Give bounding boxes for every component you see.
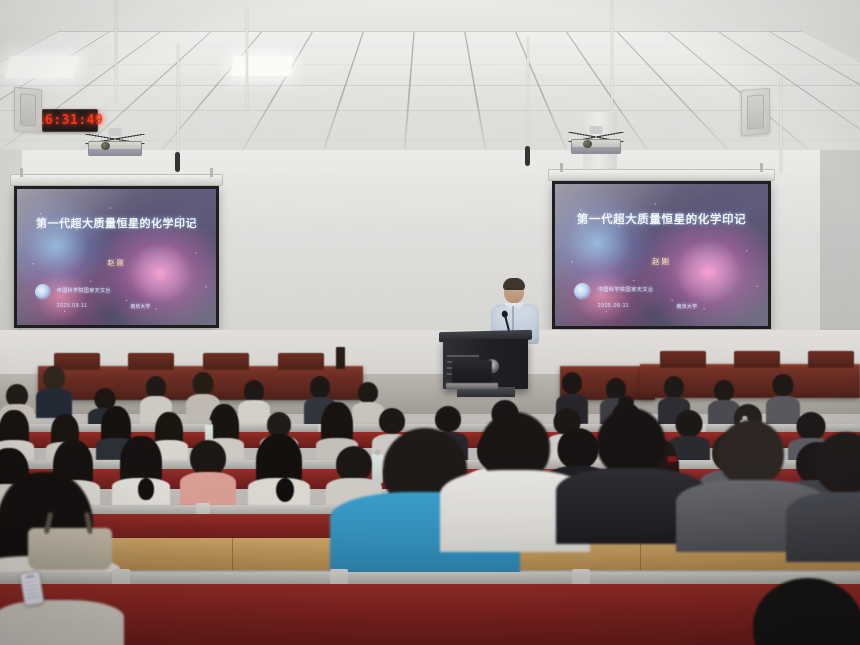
person-body <box>786 492 860 562</box>
ceiling-cable <box>246 8 248 110</box>
ceiling-cable <box>115 0 117 102</box>
person-head <box>43 366 65 390</box>
front-chair <box>203 353 249 370</box>
ceiling-cable <box>611 0 613 108</box>
person-head <box>718 420 784 486</box>
clock-time: 16:31:49 <box>37 113 104 128</box>
cable-weight <box>525 146 530 166</box>
phone-screen-content <box>23 576 41 602</box>
foreground-person-edge <box>786 432 860 562</box>
person-head <box>664 376 684 398</box>
person-body <box>180 472 236 506</box>
wall-speaker-right <box>741 88 770 137</box>
person-head <box>562 372 582 394</box>
bottle-cap <box>207 420 212 425</box>
slide-wash <box>17 189 216 325</box>
foreground-person-bottom-right <box>718 578 860 645</box>
front-chair <box>278 353 324 370</box>
audience-person <box>180 440 236 506</box>
screen-bracket <box>560 163 563 172</box>
lecture-hall-photo: 16:31:49 第一代超大质量恒星的化学印记 赵刚 中国科学院国家天文台 20… <box>0 0 860 645</box>
front-post <box>336 347 345 369</box>
front-chair <box>808 351 854 368</box>
person-head <box>146 376 166 398</box>
cable-weight <box>175 152 180 172</box>
projector-body <box>571 139 621 154</box>
person-head <box>597 408 665 476</box>
wall-led-clock: 16:31:49 <box>42 109 98 132</box>
screen-roller-case <box>548 169 775 181</box>
projector-body <box>88 141 142 156</box>
ceiling-cable <box>780 78 782 173</box>
person-head <box>773 374 794 396</box>
screen-frame: 第一代超大质量恒星的化学印记 赵刚 中国科学院国家天文台 2025.09.11 … <box>14 186 219 328</box>
screen-bracket <box>20 168 23 177</box>
front-chair <box>734 351 780 368</box>
hair-bun <box>618 396 634 408</box>
screen-bracket <box>210 168 213 177</box>
person-head <box>193 372 214 395</box>
ceiling-cable <box>527 38 529 148</box>
person-body <box>0 600 124 645</box>
speaker-grill <box>20 93 37 126</box>
ceiling-projector-left <box>85 128 145 160</box>
glasses-icon <box>506 288 522 291</box>
hair-bun <box>138 478 154 500</box>
slide-canvas: 第一代超大质量恒星的化学印记 赵刚 中国科学院国家天文台 2025.09.11 … <box>555 184 768 326</box>
front-chair <box>660 351 706 368</box>
audience-person <box>248 432 310 508</box>
person-head <box>815 432 860 494</box>
audience-person <box>112 434 170 506</box>
projector-lens-icon <box>583 140 592 148</box>
ceiling-cable <box>177 44 179 156</box>
person-head <box>310 376 330 398</box>
screen-bracket <box>760 163 763 172</box>
ceiling-projector-right <box>568 126 624 156</box>
projection-screen-right: 第一代超大质量恒星的化学印记 赵刚 中国科学院国家天文台 2025.09.11 … <box>552 181 771 329</box>
desk-seam <box>232 538 233 570</box>
slide-wash <box>555 184 768 326</box>
person-head <box>753 578 860 645</box>
person-head <box>190 440 226 476</box>
speaker-grill <box>747 95 764 130</box>
hair-bun <box>276 478 294 502</box>
projector-lens-icon <box>101 142 110 150</box>
front-chair <box>128 353 174 370</box>
tote-bag <box>28 528 112 570</box>
projection-screen-left: 第一代超大质量恒星的化学印记 赵刚 中国科学院国家天文台 2025.09.11 … <box>14 186 219 328</box>
screen-roller-case <box>10 174 223 186</box>
foreground-person-with-phone <box>0 588 124 645</box>
wall-speaker-left <box>14 87 42 133</box>
ceiling-light-panel <box>5 56 79 78</box>
slide-canvas: 第一代超大质量恒星的化学印记 赵刚 中国科学院国家天文台 2025.09.11 … <box>17 189 216 325</box>
screen-frame: 第一代超大质量恒星的化学印记 赵刚 中国科学院国家天文台 2025.09.11 … <box>552 181 771 329</box>
ceiling-light-panel <box>231 56 293 76</box>
